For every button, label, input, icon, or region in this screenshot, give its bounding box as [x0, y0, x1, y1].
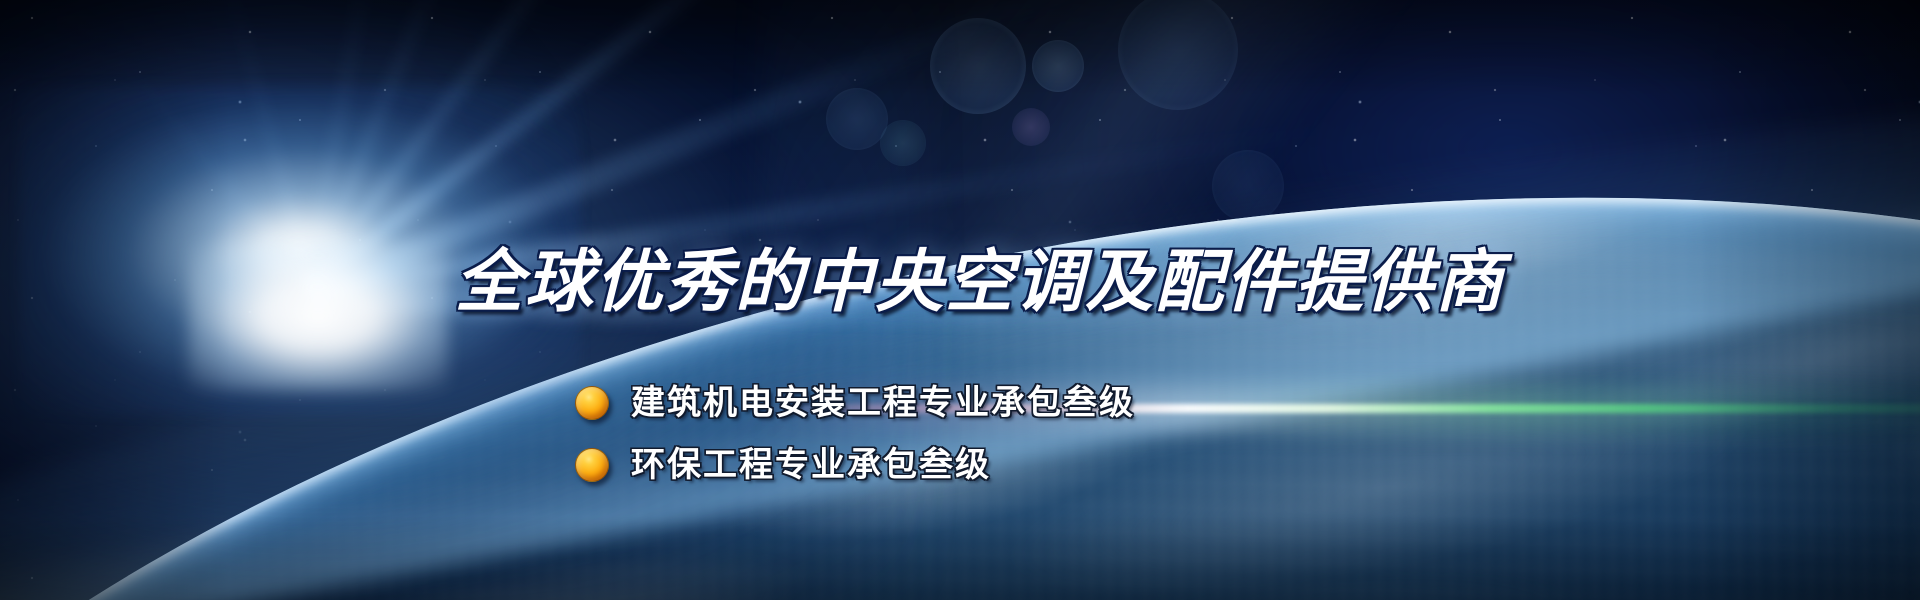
hero-banner: 全球优秀的中央空调及配件提供商 建筑机电安装工程专业承包叁级 环保工程专业承包叁…: [0, 0, 1920, 600]
list-item: 环保工程专业承包叁级: [575, 442, 1135, 488]
bullet-dot-icon: [575, 448, 609, 482]
list-item: 建筑机电安装工程专业承包叁级: [575, 380, 1135, 426]
certification-label: 环保工程专业承包叁级: [631, 448, 991, 482]
bullet-dot-icon: [575, 386, 609, 420]
certification-label: 建筑机电安装工程专业承包叁级: [631, 386, 1135, 420]
banner-content: 全球优秀的中央空调及配件提供商 建筑机电安装工程专业承包叁级 环保工程专业承包叁…: [0, 0, 1920, 600]
certification-list: 建筑机电安装工程专业承包叁级 环保工程专业承包叁级: [575, 380, 1135, 488]
banner-headline: 全球优秀的中央空调及配件提供商: [455, 248, 1505, 316]
